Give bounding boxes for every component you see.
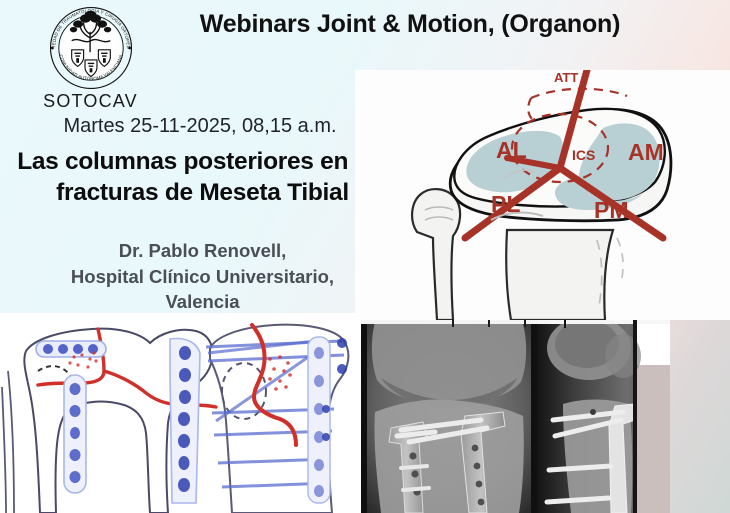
talk-title: Las columnas posteriores en las fractura… <box>0 146 405 209</box>
plate-left-vertical-center <box>64 375 86 493</box>
speaker-name: Dr. Pablo Renovell, <box>0 238 405 264</box>
sotocav-seal-icon: SOCIEDAD DE TRAUMATOLOGÍA Y CIRUGÍA ORTO… <box>45 2 137 94</box>
surgical-illustrations-panel <box>0 313 361 513</box>
speaker-affiliation: Hospital Clínico Universitario, <box>0 264 405 290</box>
label-anteromedial: AM <box>628 139 664 165</box>
xray-lateral <box>537 320 670 513</box>
sotocav-wordmark: SOTOCAV <box>28 91 153 112</box>
tibial-plateau-column-diagram: AL AM PL PM ICS ATT <box>355 70 730 320</box>
talk-title-line-1: Las columnas posteriores en las <box>0 146 405 177</box>
label-intercondylar-space: ICS <box>572 147 595 163</box>
lateral-radiograph-image <box>537 320 670 513</box>
speaker-info: Dr. Pablo Renovell, Hospital Clínico Uni… <box>0 238 405 315</box>
radiograph-panel <box>361 320 670 513</box>
speaker-city: Valencia <box>0 289 405 315</box>
illustration-left <box>2 329 216 513</box>
label-anterolateral: AL <box>496 137 527 163</box>
plate-left-lateral <box>170 339 200 503</box>
plate-left-horizontal <box>36 341 106 357</box>
sotocav-logo: SOCIEDAD DE TRAUMATOLOGÍA Y CIRUGÍA ORTO… <box>28 2 153 112</box>
xray-ap <box>361 320 537 513</box>
plating-illustrations <box>0 313 361 513</box>
event-date: Martes 25-11-2025, 08,15 a.m. <box>0 115 400 138</box>
fibula-left <box>8 371 14 513</box>
webinar-poster: Webinars Joint & Motion, (Organon) SOCIE… <box>0 0 730 513</box>
ap-radiograph-image <box>361 320 537 513</box>
talk-title-line-2: fracturas de Meseta Tibial <box>0 177 405 208</box>
label-posterolateral: PL <box>491 191 520 217</box>
plate-right-vertical <box>308 337 330 503</box>
label-anterior-tibial-tuberosity: ATT <box>554 70 578 85</box>
tibial-shaft-outline <box>506 230 613 320</box>
label-posteromedial: PM <box>594 197 629 223</box>
page-title: Webinars Joint & Motion, (Organon) <box>150 10 670 39</box>
knee-diagram-panel: AL AM PL PM ICS ATT <box>355 70 730 320</box>
fibula-outline <box>412 189 460 320</box>
illustration-right <box>206 325 348 513</box>
